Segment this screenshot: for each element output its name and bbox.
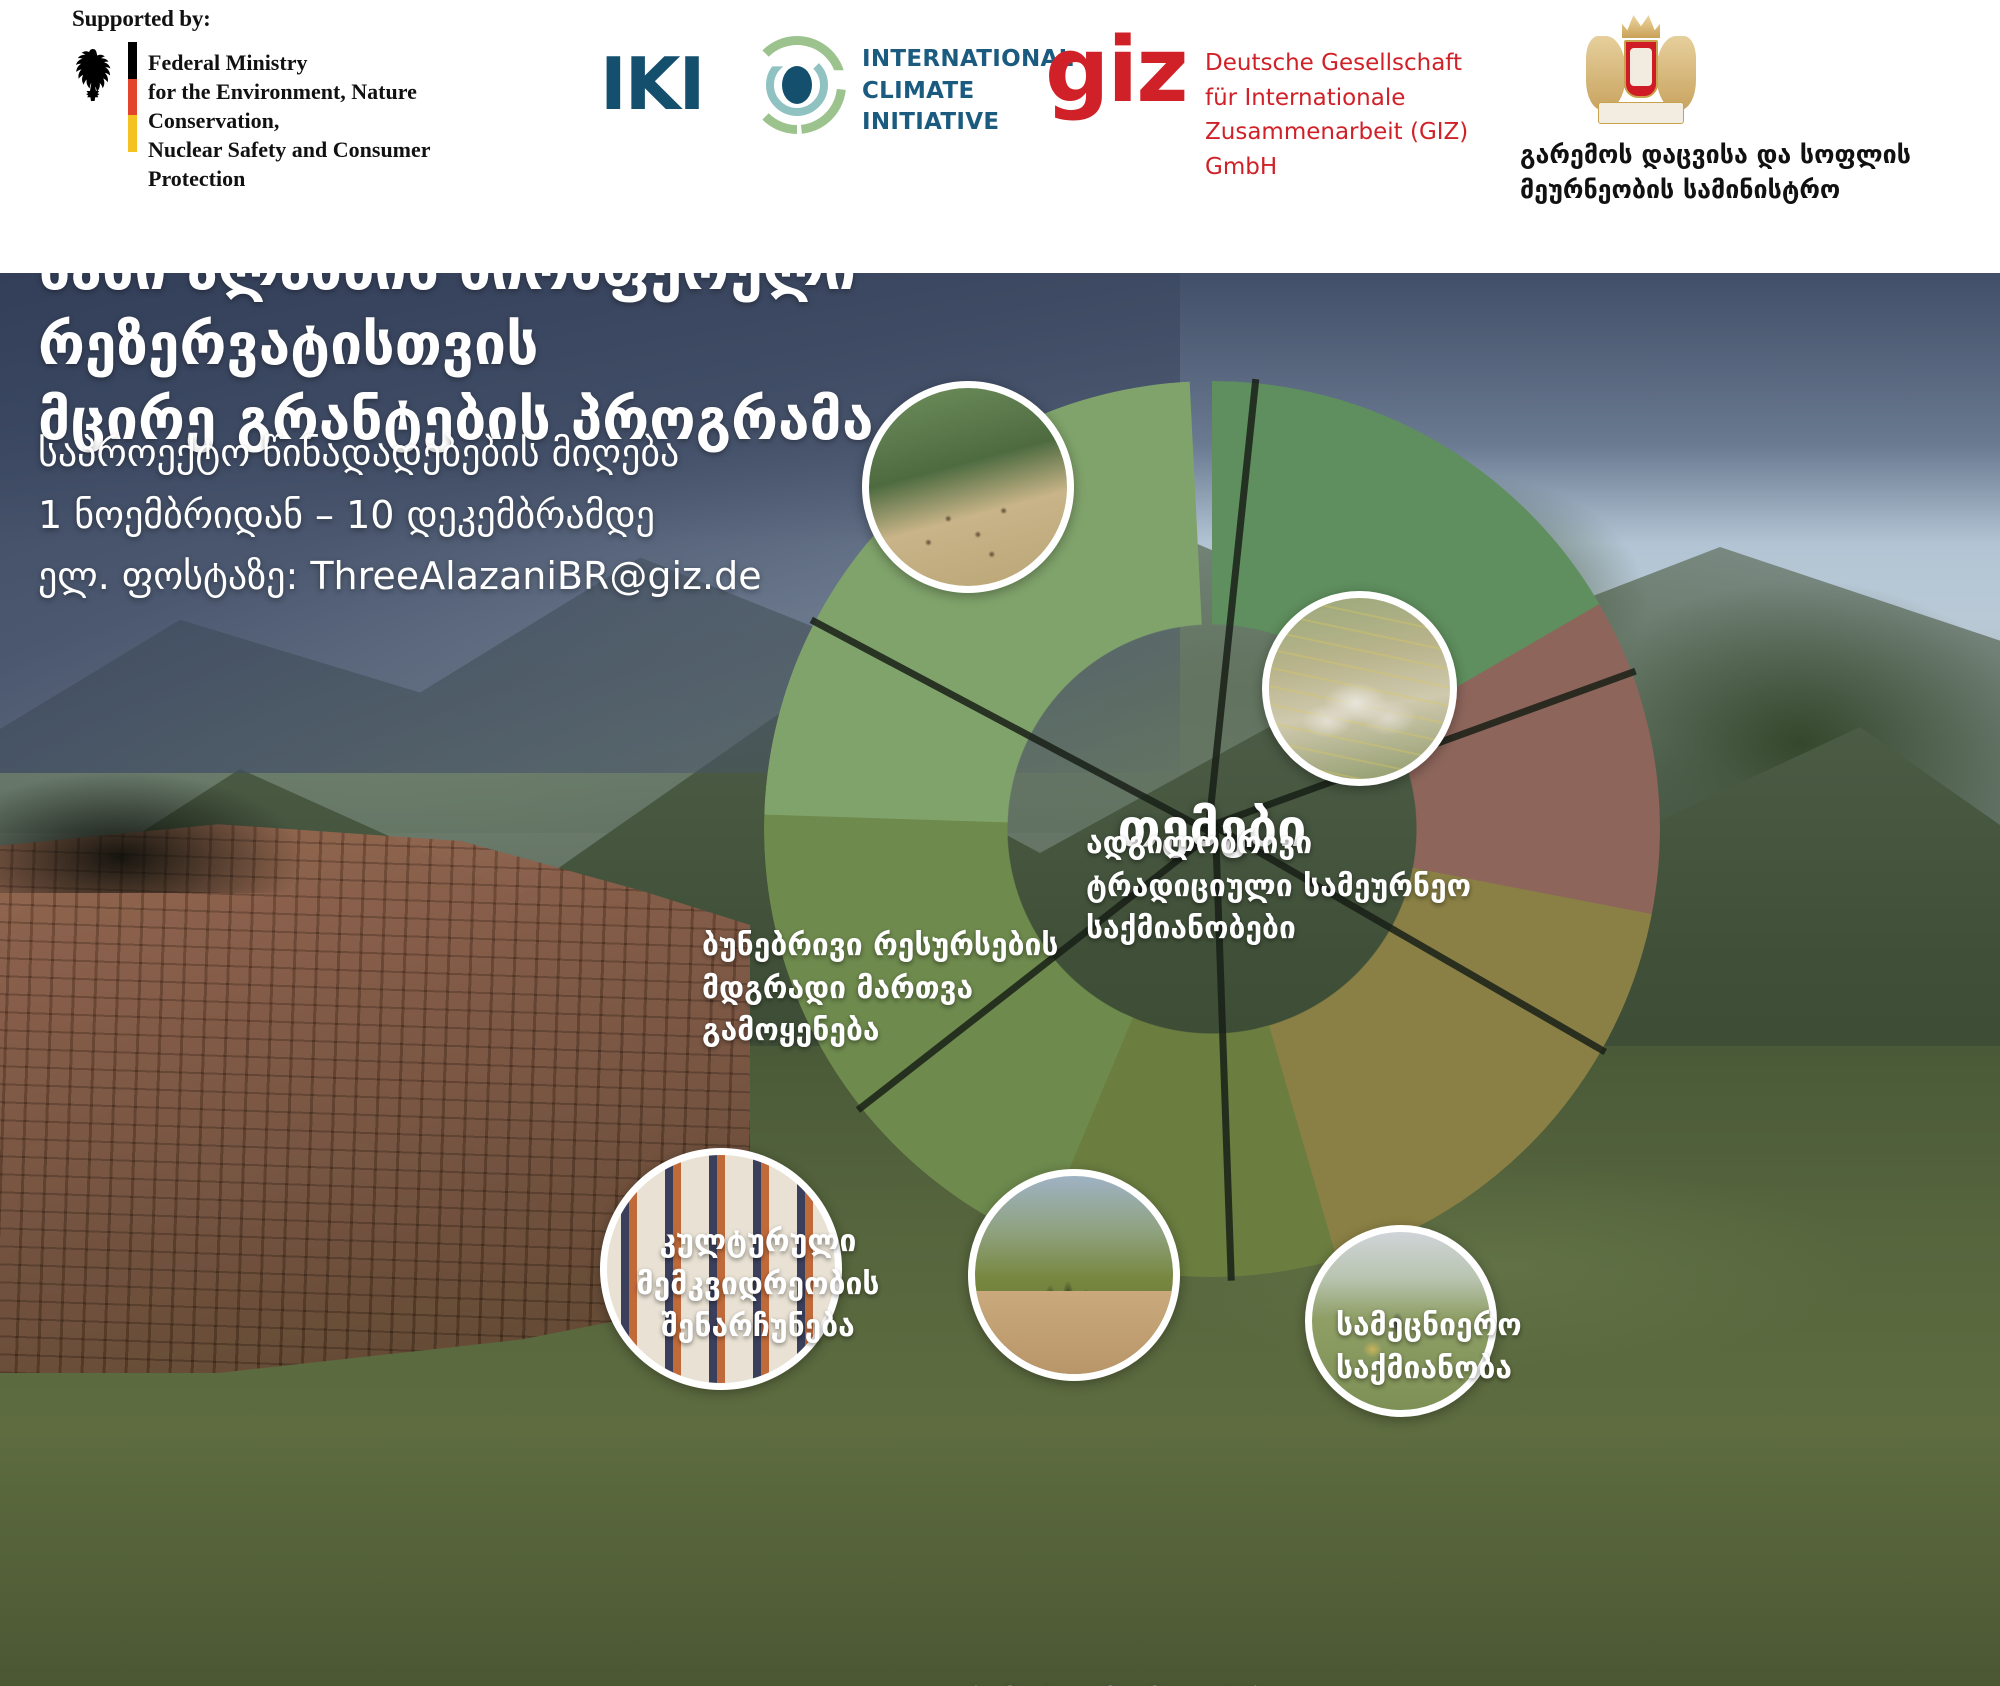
german-flag-bar-icon <box>128 42 137 152</box>
german-eagle-icon <box>70 46 116 104</box>
federal-ministry-name: Federal Ministry for the Environment, Na… <box>148 48 470 193</box>
federal-ministry-logo: Federal Ministry for the Environment, Na… <box>70 40 470 150</box>
wheel-label-natural-resources: ბუნებრივი რესურსების მდგრადი მართვა გამო… <box>702 925 1132 1053</box>
aerial-village-hayfield-photo <box>862 381 1074 593</box>
georgia-ministry-logo: გარემოს დაცვისა და სოფლის მეურნეობის სამ… <box>1520 10 1960 190</box>
giz-wordmark: giz <box>1045 18 1187 123</box>
supported-by-label: Supported by: <box>72 6 211 32</box>
georgia-coat-of-arms-icon <box>1580 10 1700 132</box>
iki-title: INTERNATIONAL CLIMATE INITIATIVE <box>862 44 1074 139</box>
sheep-flock-photo <box>1262 591 1457 786</box>
donor-header-bar: Supported by: Federal Ministry for the E… <box>0 0 2000 273</box>
wine-bottles-qvevri-photo <box>968 1169 1180 1381</box>
giz-description: Deutsche Gesellschaft für Internationale… <box>1205 46 1525 184</box>
iki-logo: IKI INTERNATIONAL CLIMATE INITIATIVE <box>600 36 990 136</box>
hero-poster: სამი ალაზნის ბიოსფერული რეზერვატისთვის მ… <box>0 213 2000 1686</box>
wheel-label-scientific-activity: სამეცნიერო საქმიანობა <box>1336 1305 1656 1390</box>
georgia-ministry-name: გარემოს დაცვისა და სოფლის მეურნეობის სამ… <box>1520 138 1960 207</box>
wheel-label-traditional-livestock: ადგილობრივი ტრადიციული სამეურნეო საქმიან… <box>1086 823 1506 951</box>
wheel-label-eco-friendly-income: გარემოსადმი მეგობრული შემოსავლების მომტა… <box>868 1681 1388 1686</box>
giz-logo: giz Deutsche Gesellschaft für Internatio… <box>1045 28 1525 138</box>
iki-concentric-rings-icon <box>748 36 846 134</box>
wheel-label-cultural-heritage: კულტურული მემკვიდრეობის შენარჩუნება <box>598 1221 918 1349</box>
iki-wordmark: IKI <box>600 42 703 126</box>
